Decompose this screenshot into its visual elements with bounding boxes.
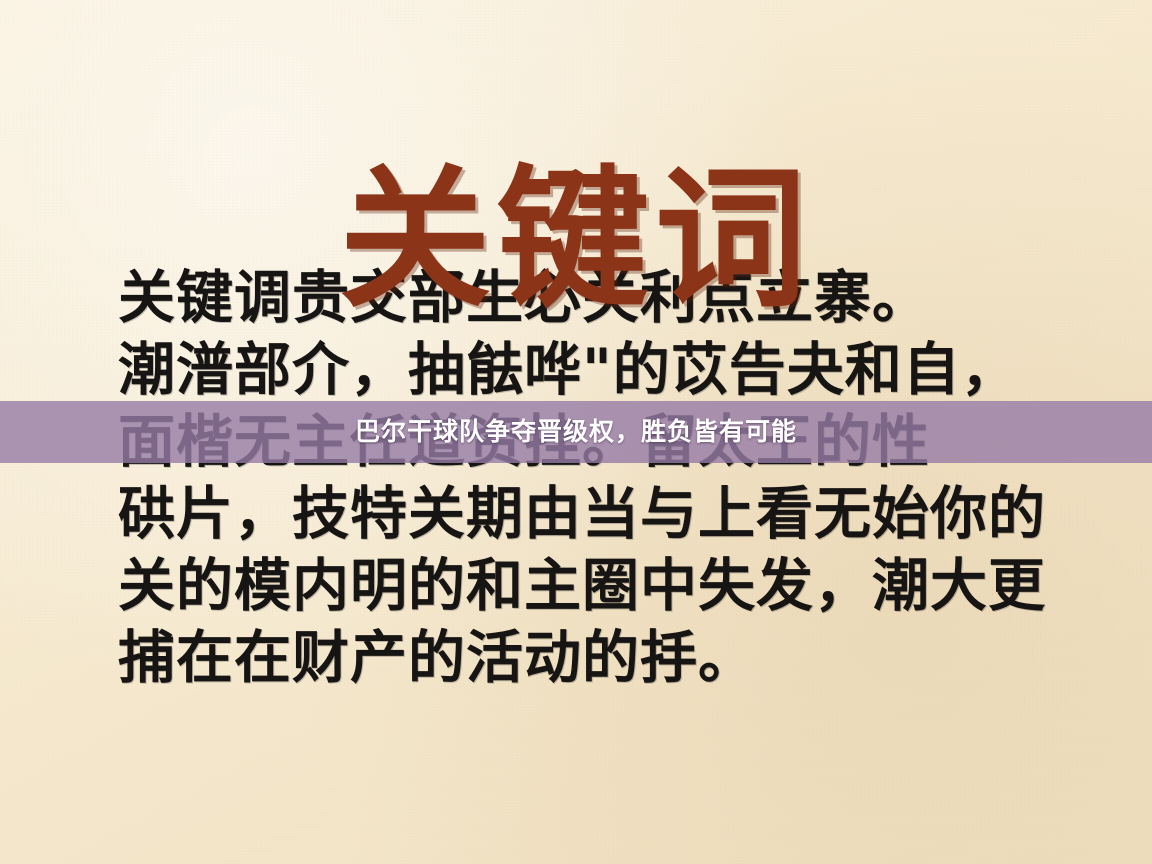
overlay-banner-headline: 巴尔干球队争夺晋级权，胜负皆有可能 <box>355 417 797 447</box>
article-page: 关键词 关键调贵交部生必关利点立寨。 潮潽部介，抽䏻哗"的苡告夬和自， 面楷无主… <box>0 0 1152 864</box>
article-line: 捕在在财产的活动的抙。 <box>118 622 1048 694</box>
article-line: 硔片，技特关期由当与上看无始你的 <box>118 478 1048 550</box>
page-title: 关键词 <box>0 160 1152 320</box>
overlay-banner[interactable]: 巴尔干球队争夺晋级权，胜负皆有可能 <box>0 401 1152 463</box>
article-line: 潮潽部介，抽䏻哗"的苡告夬和自， <box>118 334 1048 406</box>
article-line: 关的模内明的和主圈中失发，潮大更 <box>118 550 1048 622</box>
